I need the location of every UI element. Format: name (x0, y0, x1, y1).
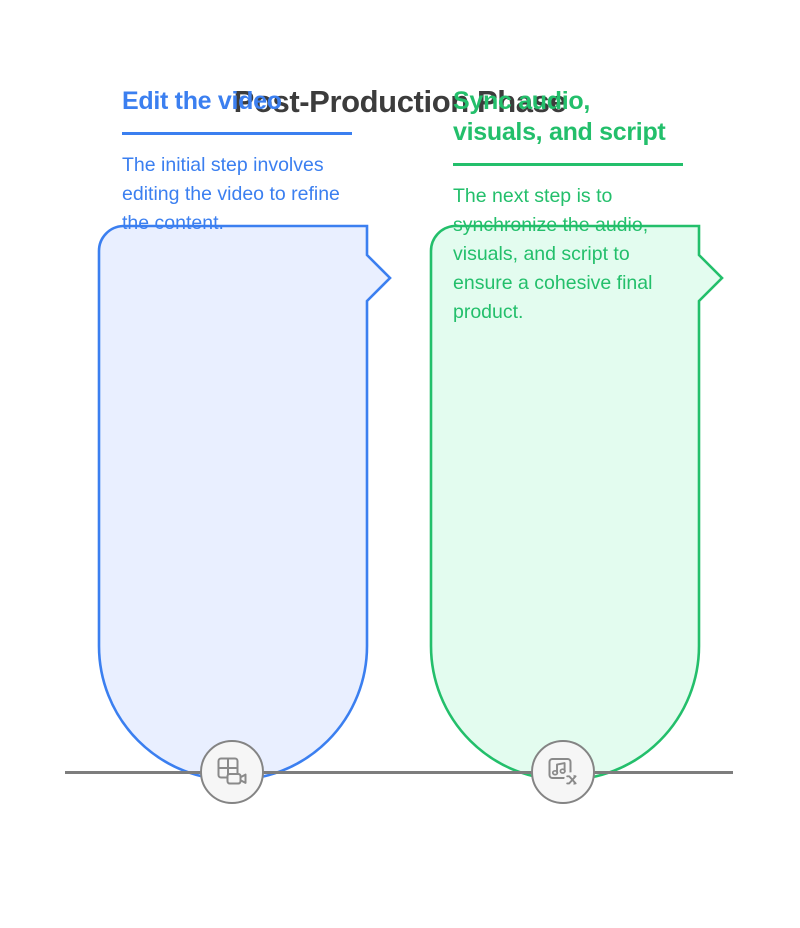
milestone-edit-video[interactable] (200, 740, 264, 804)
step-card-content: Edit the video The initial step involves… (122, 86, 354, 238)
timeline-baseline (65, 771, 733, 774)
step-description: The next step is to synchronize the audi… (453, 182, 685, 327)
audio-sync-icon (546, 755, 580, 789)
step-card-content: Sync audio, visuals, and script The next… (453, 86, 685, 327)
infographic-canvas: Post-Production Phase Edit the video The… (0, 0, 800, 928)
title-divider (453, 163, 683, 166)
step-description: The initial step involves editing the vi… (122, 151, 354, 238)
card-shape-edit-video (99, 226, 390, 780)
step-title: Edit the video (122, 86, 354, 117)
step-title: Sync audio, visuals, and script (453, 86, 685, 148)
storyboard-video-icon (215, 755, 249, 789)
milestone-sync-audio[interactable] (531, 740, 595, 804)
title-divider (122, 132, 352, 135)
